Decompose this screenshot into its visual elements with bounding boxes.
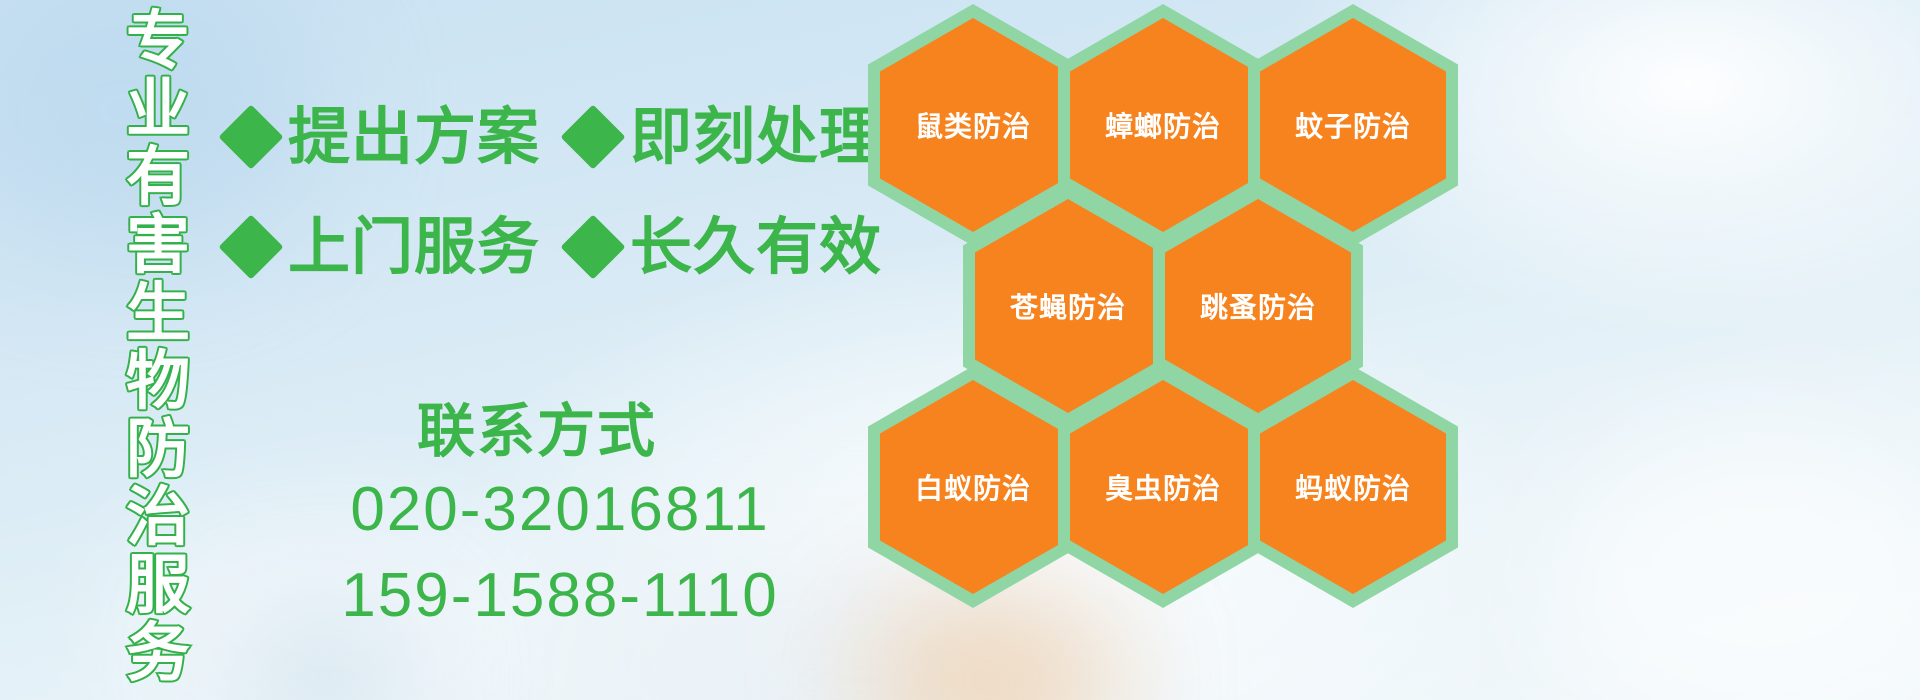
slogan-item: 长久有效 — [570, 216, 882, 278]
service-label: 跳蚤防治 — [1200, 286, 1316, 326]
phone-number-landline[interactable]: 020-32016811 — [300, 467, 820, 553]
hex-inner: 鼠类防治 — [880, 18, 1066, 232]
vertical-headline-char: 生 — [126, 280, 190, 348]
diamond-icon — [218, 214, 283, 279]
vertical-headline-char: 害 — [126, 212, 190, 280]
vertical-headline: 专 业 有 害 生 物 防 治 服 务 — [106, 8, 210, 568]
hex-inner: 臭虫防治 — [1070, 380, 1256, 594]
slogan-item: 提出方案 — [228, 106, 540, 168]
slogan-row: 提出方案 即刻处理 — [228, 82, 868, 192]
background-blob — [1550, 420, 1920, 700]
vertical-headline-char: 治 — [126, 484, 190, 552]
vertical-headline-char: 业 — [126, 76, 190, 144]
vertical-headline-char: 服 — [126, 552, 190, 620]
hex-inner: 蟑螂防治 — [1070, 18, 1256, 232]
phone-number-mobile[interactable]: 159-1588-1110 — [300, 553, 820, 639]
vertical-headline-char: 物 — [126, 348, 190, 416]
contact-title: 联系方式 — [254, 395, 820, 467]
vertical-headline-char: 务 — [126, 620, 190, 688]
slogan-row: 上门服务 长久有效 — [228, 192, 868, 302]
diamond-icon — [218, 104, 283, 169]
slogan-item: 上门服务 — [228, 216, 540, 278]
slogan-list: 提出方案 即刻处理 上门服务 长久有效 — [228, 82, 868, 302]
service-label: 蚊子防治 — [1295, 105, 1411, 145]
vertical-headline-char: 有 — [126, 144, 190, 212]
slogan-label: 长久有效 — [630, 216, 882, 278]
slogan-item: 即刻处理 — [570, 106, 882, 168]
service-hexagon-grid: 鼠类防治 蟑螂防治 蚊子防治 苍蝇防治 跳蚤防治 白蚁防治 — [860, 0, 1480, 700]
slogan-label: 上门服务 — [288, 216, 540, 278]
diamond-icon — [560, 214, 625, 279]
service-label: 蚂蚁防治 — [1295, 467, 1411, 507]
hex-inner: 跳蚤防治 — [1165, 199, 1351, 413]
service-label: 鼠类防治 — [915, 105, 1031, 145]
service-label: 苍蝇防治 — [1010, 286, 1126, 326]
contact-block: 联系方式 020-32016811 159-1588-1110 — [300, 395, 820, 639]
vertical-headline-char: 防 — [126, 416, 190, 484]
vertical-headline-char: 专 — [126, 8, 190, 76]
slogan-label: 提出方案 — [288, 106, 540, 168]
hex-inner: 苍蝇防治 — [975, 199, 1161, 413]
diamond-icon — [560, 104, 625, 169]
service-label: 蟑螂防治 — [1105, 105, 1221, 145]
hex-inner: 白蚁防治 — [880, 380, 1066, 594]
pest-control-banner: 专 业 有 害 生 物 防 治 服 务 提出方案 即刻处理 上门服务 — [0, 0, 1920, 700]
service-label: 白蚁防治 — [915, 467, 1031, 507]
hex-inner: 蚊子防治 — [1260, 18, 1446, 232]
hex-inner: 蚂蚁防治 — [1260, 380, 1446, 594]
service-label: 臭虫防治 — [1105, 467, 1221, 507]
slogan-label: 即刻处理 — [630, 106, 882, 168]
